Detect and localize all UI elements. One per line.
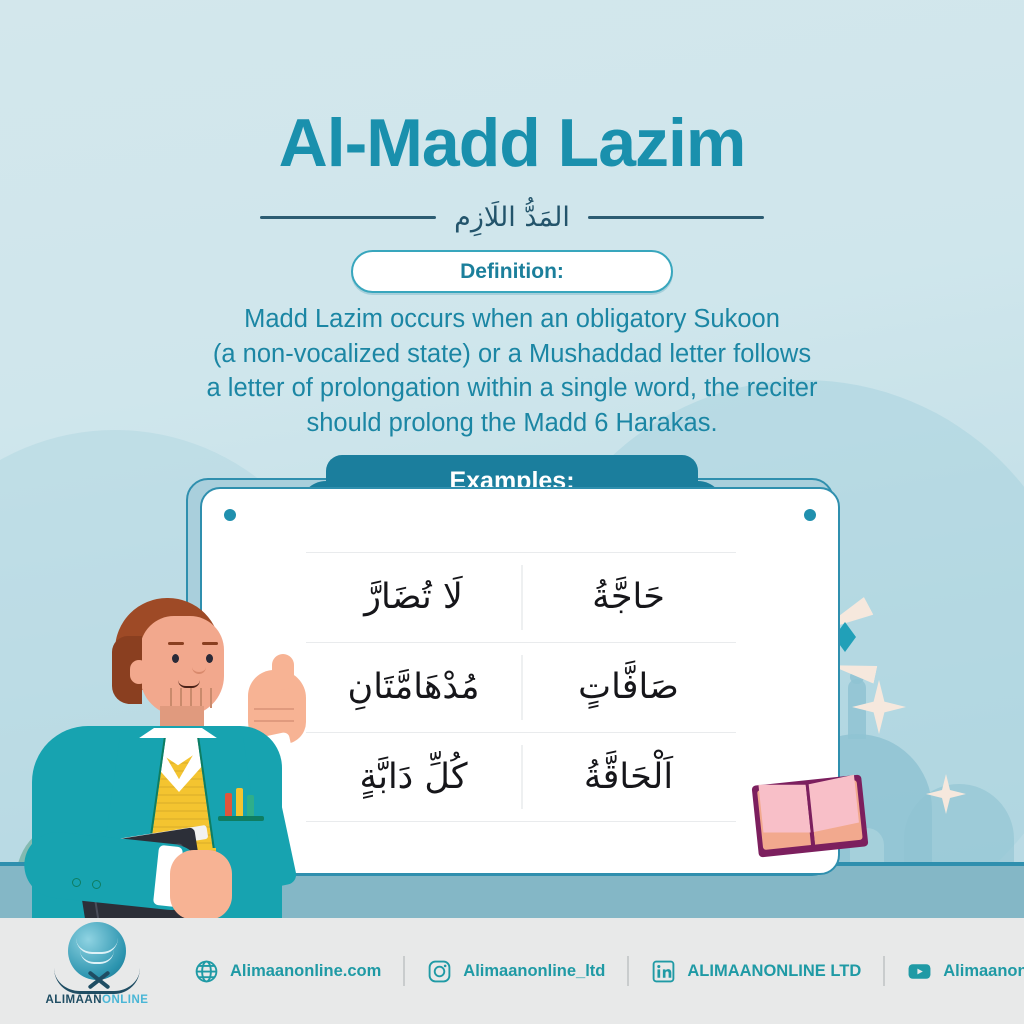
logo-wordmark: ALIMAANONLINE	[42, 994, 152, 1006]
infographic-canvas: Al-Madd Lazim المَدُّ اللَازِم Definitio…	[0, 0, 1024, 1024]
teacher-sleeve-button	[72, 878, 81, 887]
teacher-sleeve-button	[92, 880, 101, 889]
column-divider	[521, 745, 523, 808]
definition-line: Madd Lazim occurs when an obligatory Suk…	[112, 302, 912, 337]
teacher-eyebrow	[168, 642, 184, 645]
examples-table: لَا تُضَارَّ حَاجَّةُ مُدْهَامَّتَانِ صَ…	[306, 552, 736, 822]
social-website[interactable]: Alimaanonline.com	[172, 959, 403, 984]
card-dot-right-icon	[804, 509, 816, 521]
globe-icon	[194, 959, 219, 984]
social-label: Alimaanonline_ltd	[463, 962, 605, 981]
linkedin-icon	[651, 959, 676, 984]
definition-line: a letter of prolongation within a single…	[112, 371, 912, 406]
book-page-top-left	[758, 785, 810, 833]
example-right: حَاجَّةُ	[521, 564, 736, 631]
subtitle-arabic: المَدُّ اللَازِم	[454, 196, 570, 239]
teacher-eyebrow	[202, 642, 218, 645]
table-row: كُلِّ دَابَّةٍ اَلْحَاقَّةُ	[306, 732, 736, 822]
subtitle-row: المَدُّ اللَازِم	[0, 196, 1024, 239]
table-row: مُدْهَامَّتَانِ صَافَّاتٍ	[306, 642, 736, 732]
teacher-knuckle-line	[254, 720, 294, 722]
teacher-knuckle-line	[254, 708, 294, 710]
definition-line: should prolong the Madd 6 Harakas.	[112, 406, 912, 441]
table-row: لَا تُضَارَّ حَاجَّةُ	[306, 552, 736, 642]
teacher-index-finger	[272, 654, 294, 690]
social-youtube[interactable]: Alimaanonline	[885, 959, 1024, 984]
divider-right	[588, 216, 764, 219]
logo-word-primary: ALIMAAN	[46, 994, 103, 1006]
youtube-icon	[907, 959, 932, 984]
divider-left	[260, 216, 436, 219]
teacher-holding-hand	[170, 850, 232, 920]
social-instagram[interactable]: Alimaanonline_ltd	[405, 959, 627, 984]
logo-word-secondary: ONLINE	[102, 994, 148, 1006]
column-divider	[521, 565, 523, 629]
example-right: صَافَّاتٍ	[521, 654, 736, 721]
teacher-eye	[172, 654, 179, 663]
example-right: اَلْحَاقَّةُ	[521, 744, 736, 811]
instagram-icon	[427, 959, 452, 984]
definition-line: (a non-vocalized state) or a Mushaddad l…	[112, 337, 912, 372]
teacher-illustration	[20, 588, 350, 918]
social-label: ALIMAANONLINE LTD	[687, 962, 861, 981]
social-label: Alimaanonline.com	[230, 962, 381, 981]
teacher-ear	[130, 660, 148, 684]
teacher-pocket	[218, 816, 264, 821]
social-links: Alimaanonline.com Alimaanonline_ltd	[172, 918, 1024, 1024]
social-linkedin[interactable]: ALIMAANONLINE LTD	[629, 959, 883, 984]
brand-logo: ALIMAANONLINE	[42, 920, 152, 1012]
teacher-eye	[206, 654, 213, 663]
definition-label: Definition:	[351, 250, 673, 293]
page-title: Al-Madd Lazim	[0, 104, 1024, 182]
book-page-top-right	[808, 775, 859, 833]
column-divider	[521, 655, 523, 719]
card-dot-left-icon	[224, 509, 236, 521]
definition-text: Madd Lazim occurs when an obligatory Suk…	[112, 302, 912, 441]
social-label: Alimaanonline	[943, 962, 1024, 981]
footer-bar: ALIMAANONLINE Alimaanonline.com	[0, 918, 1024, 1024]
open-book-illustration	[752, 774, 869, 857]
